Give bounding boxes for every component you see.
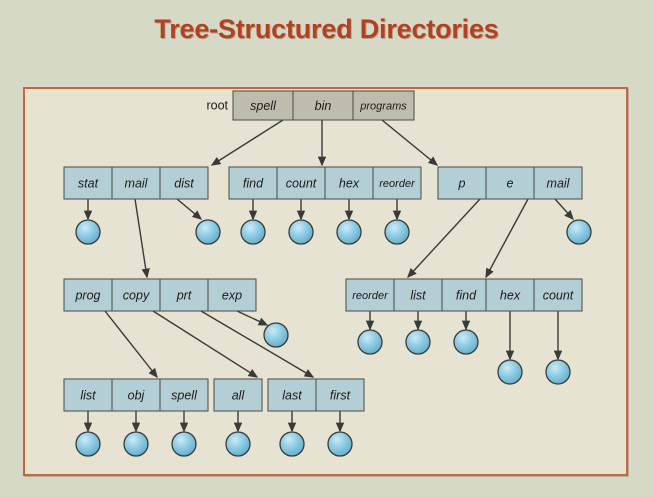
cell-list-l4-label: list <box>80 388 96 402</box>
edge-exp-to-file <box>237 311 267 325</box>
root-cell-programs-label: programs <box>359 100 407 112</box>
p-children-group: reorder list find <box>346 279 490 311</box>
root-cell-bin-label: bin <box>315 99 332 113</box>
cell-p-label: p <box>458 176 466 190</box>
file-node[interactable] <box>406 330 430 354</box>
cell-copy-label: copy <box>123 288 150 302</box>
file-node[interactable] <box>454 330 478 354</box>
file-node[interactable] <box>337 220 361 244</box>
slide-canvas: Tree-Structured Directories <box>0 0 653 497</box>
cell-count-label: count <box>286 176 317 190</box>
cell-obj-l4-label: obj <box>128 388 146 402</box>
file-node[interactable] <box>172 432 196 456</box>
figure-frame: root spell bin programs stat mail <box>23 87 628 476</box>
level-4-row: list obj spell all last first <box>64 379 364 411</box>
cell-all-l4-label: all <box>232 388 246 402</box>
file-node[interactable] <box>567 220 591 244</box>
cell-list-l3-label: list <box>410 288 426 302</box>
file-node[interactable] <box>264 323 288 347</box>
file-node-layer <box>76 220 591 456</box>
cell-last-l4-label: last <box>282 388 302 402</box>
edge-dist-to-file <box>177 199 201 219</box>
file-node[interactable] <box>76 220 100 244</box>
cell-exp-label: exp <box>222 288 242 302</box>
cell-count-l3-label: count <box>543 288 574 302</box>
mail-children-group: prog copy prt exp <box>64 279 256 311</box>
bin-children-group: find count hex reorder <box>229 167 421 199</box>
file-node[interactable] <box>226 432 250 456</box>
file-node[interactable] <box>498 360 522 384</box>
cell-prog-label: prog <box>74 288 100 302</box>
cell-find-l3-label: find <box>456 288 477 302</box>
spell-children-group: stat mail dist <box>64 167 208 199</box>
edge-spell-to-stat-group <box>212 120 283 165</box>
file-node[interactable] <box>241 220 265 244</box>
file-node[interactable] <box>385 220 409 244</box>
file-node[interactable] <box>328 432 352 456</box>
cell-prt-label: prt <box>176 288 192 302</box>
edge-e-to-hex-group <box>486 199 528 277</box>
root-cell-spell-label: spell <box>250 99 277 113</box>
file-node[interactable] <box>196 220 220 244</box>
cell-reorder-label: reorder <box>379 178 416 190</box>
e-children-group: hex count <box>486 279 582 311</box>
copy-children-group: all <box>214 379 262 411</box>
file-node[interactable] <box>280 432 304 456</box>
cell-spell-l4-label: spell <box>171 388 198 402</box>
cell-mail-label: mail <box>125 176 149 190</box>
cell-mail-right-label: mail <box>547 176 571 190</box>
cell-first-l4-label: first <box>330 388 351 402</box>
file-node[interactable] <box>546 360 570 384</box>
file-node[interactable] <box>124 432 148 456</box>
file-node[interactable] <box>76 432 100 456</box>
cell-reorder-l3-label: reorder <box>352 290 389 302</box>
programs-children-group: p e mail <box>438 167 582 199</box>
prt-children-group: last first <box>268 379 364 411</box>
prog-children-group: list obj spell <box>64 379 208 411</box>
cell-e-label: e <box>507 176 514 190</box>
page-title: Tree-Structured Directories <box>0 14 653 45</box>
root-row: root spell bin programs <box>206 91 414 120</box>
file-node[interactable] <box>289 220 313 244</box>
file-node[interactable] <box>358 330 382 354</box>
root-label: root <box>206 98 228 112</box>
edge-prog-to-obj-group <box>105 311 157 377</box>
cell-stat-label: stat <box>78 176 99 190</box>
edge-programs-to-p-group <box>382 120 437 165</box>
edge-mail-to-prog-group <box>135 199 147 277</box>
edge-p-to-reorder-group <box>408 199 480 277</box>
cell-dist-label: dist <box>174 176 194 190</box>
cell-find-label: find <box>243 176 264 190</box>
edge-copy-to-all <box>153 311 257 377</box>
cell-hex-l3-label: hex <box>500 288 521 302</box>
tree-diagram: root spell bin programs stat mail <box>25 89 626 474</box>
level-3-row: prog copy prt exp reorder list find <box>64 279 582 311</box>
level-2-row: stat mail dist find count hex reorder <box>64 167 582 199</box>
root-group: spell bin programs <box>233 91 414 120</box>
edge-mail-right-to-file <box>555 199 573 219</box>
cell-hex-label: hex <box>339 176 360 190</box>
